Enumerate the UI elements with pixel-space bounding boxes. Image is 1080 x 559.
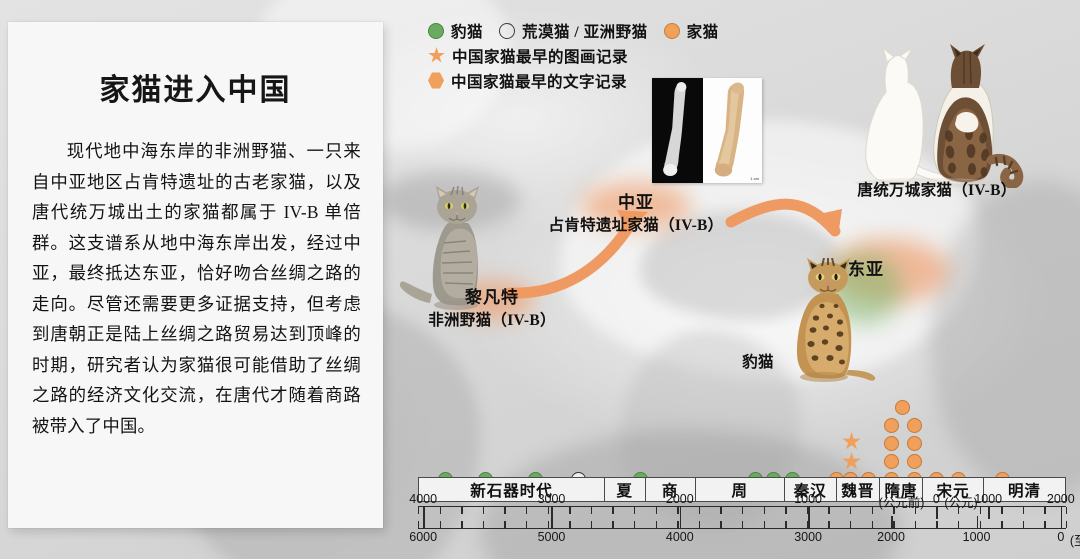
infographic-canvas: 家猫进入中国 现代地中海东岸的非洲野猫、一只来自中亚地区占肯特遗址的古老家猫，以… — [0, 0, 1080, 559]
legend-item-leopard-cat: 豹猫 — [428, 20, 483, 42]
article-text-panel: 家猫进入中国 现代地中海东岸的非洲野猫、一只来自中亚地区占肯特遗址的古老家猫，以… — [8, 22, 383, 528]
axis-tick-label: 6000 — [409, 530, 437, 544]
axis-minor-tick — [591, 507, 592, 514]
axis-minor-tick — [699, 507, 700, 514]
axis-minor-tick — [656, 507, 657, 514]
axis-minor-tick — [1001, 507, 1002, 514]
legend-label: 荒漠猫 / 亚洲野猫 — [522, 20, 648, 42]
axis-tick-label: 0 — [1057, 530, 1064, 544]
axis-minor-tick — [677, 507, 678, 514]
bone-specimen-image: 1 cm — [703, 78, 762, 183]
axis-tick-label: 1000 — [794, 492, 822, 506]
axis-minor-tick — [764, 507, 765, 514]
femur-bone-photo: 1 cm — [652, 78, 762, 183]
axis-tick-label: 1000 — [974, 492, 1002, 506]
axis-minor-tick — [980, 521, 981, 528]
legend-item-picture-record: 中国家猫最早的图画记录 — [428, 45, 628, 67]
axis-major-tick — [680, 516, 682, 528]
axis-minor-tick — [742, 521, 743, 528]
axis-minor-tick — [634, 521, 635, 528]
axis-tick-label: 2000 — [877, 530, 905, 544]
legend-row-species: 豹猫 荒漠猫 / 亚洲野猫 家猫 — [428, 18, 848, 43]
timeline-orange-marker — [884, 418, 899, 433]
axis-minor-tick — [720, 507, 721, 514]
tang-cats-caption: 唐统万城家猫（IV-B） — [830, 178, 1044, 200]
axis-tick-label: 4000 — [666, 530, 694, 544]
axis-minor-tick — [1023, 507, 1024, 514]
legend: 豹猫 荒漠猫 / 亚洲野猫 家猫 中国家猫最早的图画记录 中国家猫最早的文字记录 — [428, 18, 848, 93]
timeline-star-marker — [842, 452, 861, 471]
axis-minor-tick — [1044, 507, 1045, 514]
leopard-cat-caption: 豹猫 — [718, 350, 798, 372]
axis-minor-tick — [872, 521, 873, 528]
axis-minor-tick — [526, 507, 527, 514]
central-asia-subtitle: 占肯特遗址家猫（IV-B） — [521, 213, 751, 235]
legend-item-wildcat: 荒漠猫 / 亚洲野猫 — [499, 20, 648, 42]
axis-minor-tick — [612, 507, 613, 514]
article-body-text: 现代地中海东岸的非洲野猫、一只来自中亚地区占肯特遗址的古老家猫，以及唐代统万城出… — [32, 136, 361, 441]
map-label-east-asia: 东亚 — [830, 255, 902, 280]
map-label-central-asia: 中亚 占肯特遗址家猫（IV-B） — [521, 188, 751, 235]
axis-minor-tick — [461, 507, 462, 514]
axis-minor-tick — [418, 507, 419, 514]
axis-minor-tick — [483, 507, 484, 514]
levant-subtitle: 非洲野猫（IV-B） — [412, 308, 572, 330]
axis-tick-label: 0 — [933, 492, 940, 506]
bone-xray-image — [652, 78, 703, 183]
axis-minor-tick — [504, 507, 505, 514]
axis-minor-tick — [1066, 521, 1067, 528]
axis-minor-tick — [569, 521, 570, 528]
page-title: 家猫进入中国 — [8, 65, 383, 109]
axis-tick-label: 2000 — [666, 492, 694, 506]
axis-minor-tick — [634, 507, 635, 514]
axis-minor-tick — [764, 521, 765, 528]
dynasty-cell: 周 — [696, 478, 785, 501]
axis-minor-tick — [1044, 521, 1045, 528]
timeline-orange-marker — [907, 418, 922, 433]
axis-minor-tick — [1001, 521, 1002, 528]
dynasty-cell: 新石器时代 — [419, 478, 605, 501]
axis-minor-tick — [440, 507, 441, 514]
axis-minor-tick — [742, 507, 743, 514]
axis-minor-tick — [850, 521, 851, 528]
axis-ce-label: (公元) — [944, 492, 977, 511]
levant-title: 黎凡特 — [412, 283, 572, 308]
axis-bce-label: (公元前) — [879, 492, 925, 511]
tang-cats-caption-text: 唐统万城家猫（IV-B） — [830, 178, 1044, 200]
dynasty-cell: 魏晋 — [837, 478, 880, 501]
axis-tick-label: 5000 — [538, 530, 566, 544]
axis-major-tick — [551, 516, 553, 528]
orange-star-icon — [428, 47, 445, 64]
legend-row-earliest-picture: 中国家猫最早的图画记录 — [428, 43, 848, 68]
legend-item-text-record: 中国家猫最早的文字记录 — [428, 70, 627, 92]
timeline-orange-marker — [884, 454, 899, 469]
timeline-orange-marker — [907, 436, 922, 451]
axis-minor-tick — [785, 507, 786, 514]
axis-minor-tick — [980, 507, 981, 514]
axis-minor-tick — [915, 521, 916, 528]
axis-minor-tick — [1066, 507, 1067, 514]
orange-circle-icon — [664, 23, 680, 39]
tang-dynasty-cats-illustration — [842, 38, 1032, 188]
axis-minor-tick — [526, 521, 527, 528]
axis-minor-tick — [828, 521, 829, 528]
central-asia-title: 中亚 — [521, 188, 751, 213]
axis-major-tick — [977, 516, 979, 528]
axis-minor-tick — [656, 521, 657, 528]
axis-tick-label: 2000 — [1047, 492, 1075, 506]
axis-minor-tick — [958, 521, 959, 528]
axis-minor-tick — [893, 521, 894, 528]
axis-minor-tick — [1023, 521, 1024, 528]
axis-present-label: (至今) — [1070, 530, 1080, 549]
axis-minor-tick — [548, 507, 549, 514]
leopard-cat-caption-text: 豹猫 — [718, 350, 798, 372]
green-circle-icon — [428, 23, 444, 39]
axis-minor-tick — [483, 521, 484, 528]
axis-minor-tick — [440, 521, 441, 528]
east-asia-title: 东亚 — [830, 255, 902, 280]
axis-minor-tick — [461, 521, 462, 528]
timeline-orange-marker — [895, 400, 910, 415]
hollow-circle-icon — [499, 23, 515, 39]
timeline-orange-marker — [884, 436, 899, 451]
axis-major-tick — [423, 516, 425, 528]
axis-minor-tick — [504, 521, 505, 528]
axis-minor-tick — [936, 521, 937, 528]
axis-major-tick — [936, 507, 938, 519]
scale-bar-label: 1 cm — [750, 176, 759, 181]
axis-minor-tick — [850, 507, 851, 514]
axis-tick-label: 3000 — [538, 492, 566, 506]
timeline-star-marker — [842, 432, 861, 451]
axis-minor-tick — [872, 507, 873, 514]
axis-minor-tick — [418, 521, 419, 528]
legend-label: 家猫 — [687, 20, 719, 42]
axis-minor-tick — [591, 521, 592, 528]
axis-minor-tick — [828, 507, 829, 514]
legend-item-domestic-cat: 家猫 — [664, 20, 719, 42]
axis-major-tick — [1061, 516, 1063, 528]
axis-minor-tick — [699, 521, 700, 528]
axis-minor-tick — [720, 521, 721, 528]
axis-minor-tick — [612, 521, 613, 528]
axis-minor-tick — [677, 521, 678, 528]
axis-years-bp: 6000500040003000200010000(至今) — [418, 528, 1066, 554]
axis-minor-tick — [548, 521, 549, 528]
map-label-levant: 黎凡特 非洲野猫（IV-B） — [412, 283, 572, 330]
axis-tick-label: 3000 — [794, 530, 822, 544]
axis-tick-label: 4000 — [409, 492, 437, 506]
archaeology-timeline: 新石器时代夏商周秦汉魏晋隋唐宋元明清 400030002000100001000… — [418, 398, 1068, 556]
axis-major-tick — [988, 507, 990, 519]
axis-major-tick — [808, 516, 810, 528]
dynasty-cell: 夏 — [605, 478, 646, 501]
axis-minor-tick — [785, 521, 786, 528]
timeline-marker-layer — [418, 398, 1068, 478]
axis-tick-label: 1000 — [963, 530, 991, 544]
legend-label: 中国家猫最早的图画记录 — [452, 45, 628, 67]
axis-major-tick — [891, 516, 893, 528]
axis-minor-tick — [569, 507, 570, 514]
timeline-orange-marker — [907, 454, 922, 469]
legend-label: 中国家猫最早的文字记录 — [451, 70, 627, 92]
legend-row-earliest-text: 中国家猫最早的文字记录 — [428, 68, 848, 93]
legend-label: 豹猫 — [451, 20, 483, 42]
orange-hexagon-icon — [428, 72, 444, 89]
